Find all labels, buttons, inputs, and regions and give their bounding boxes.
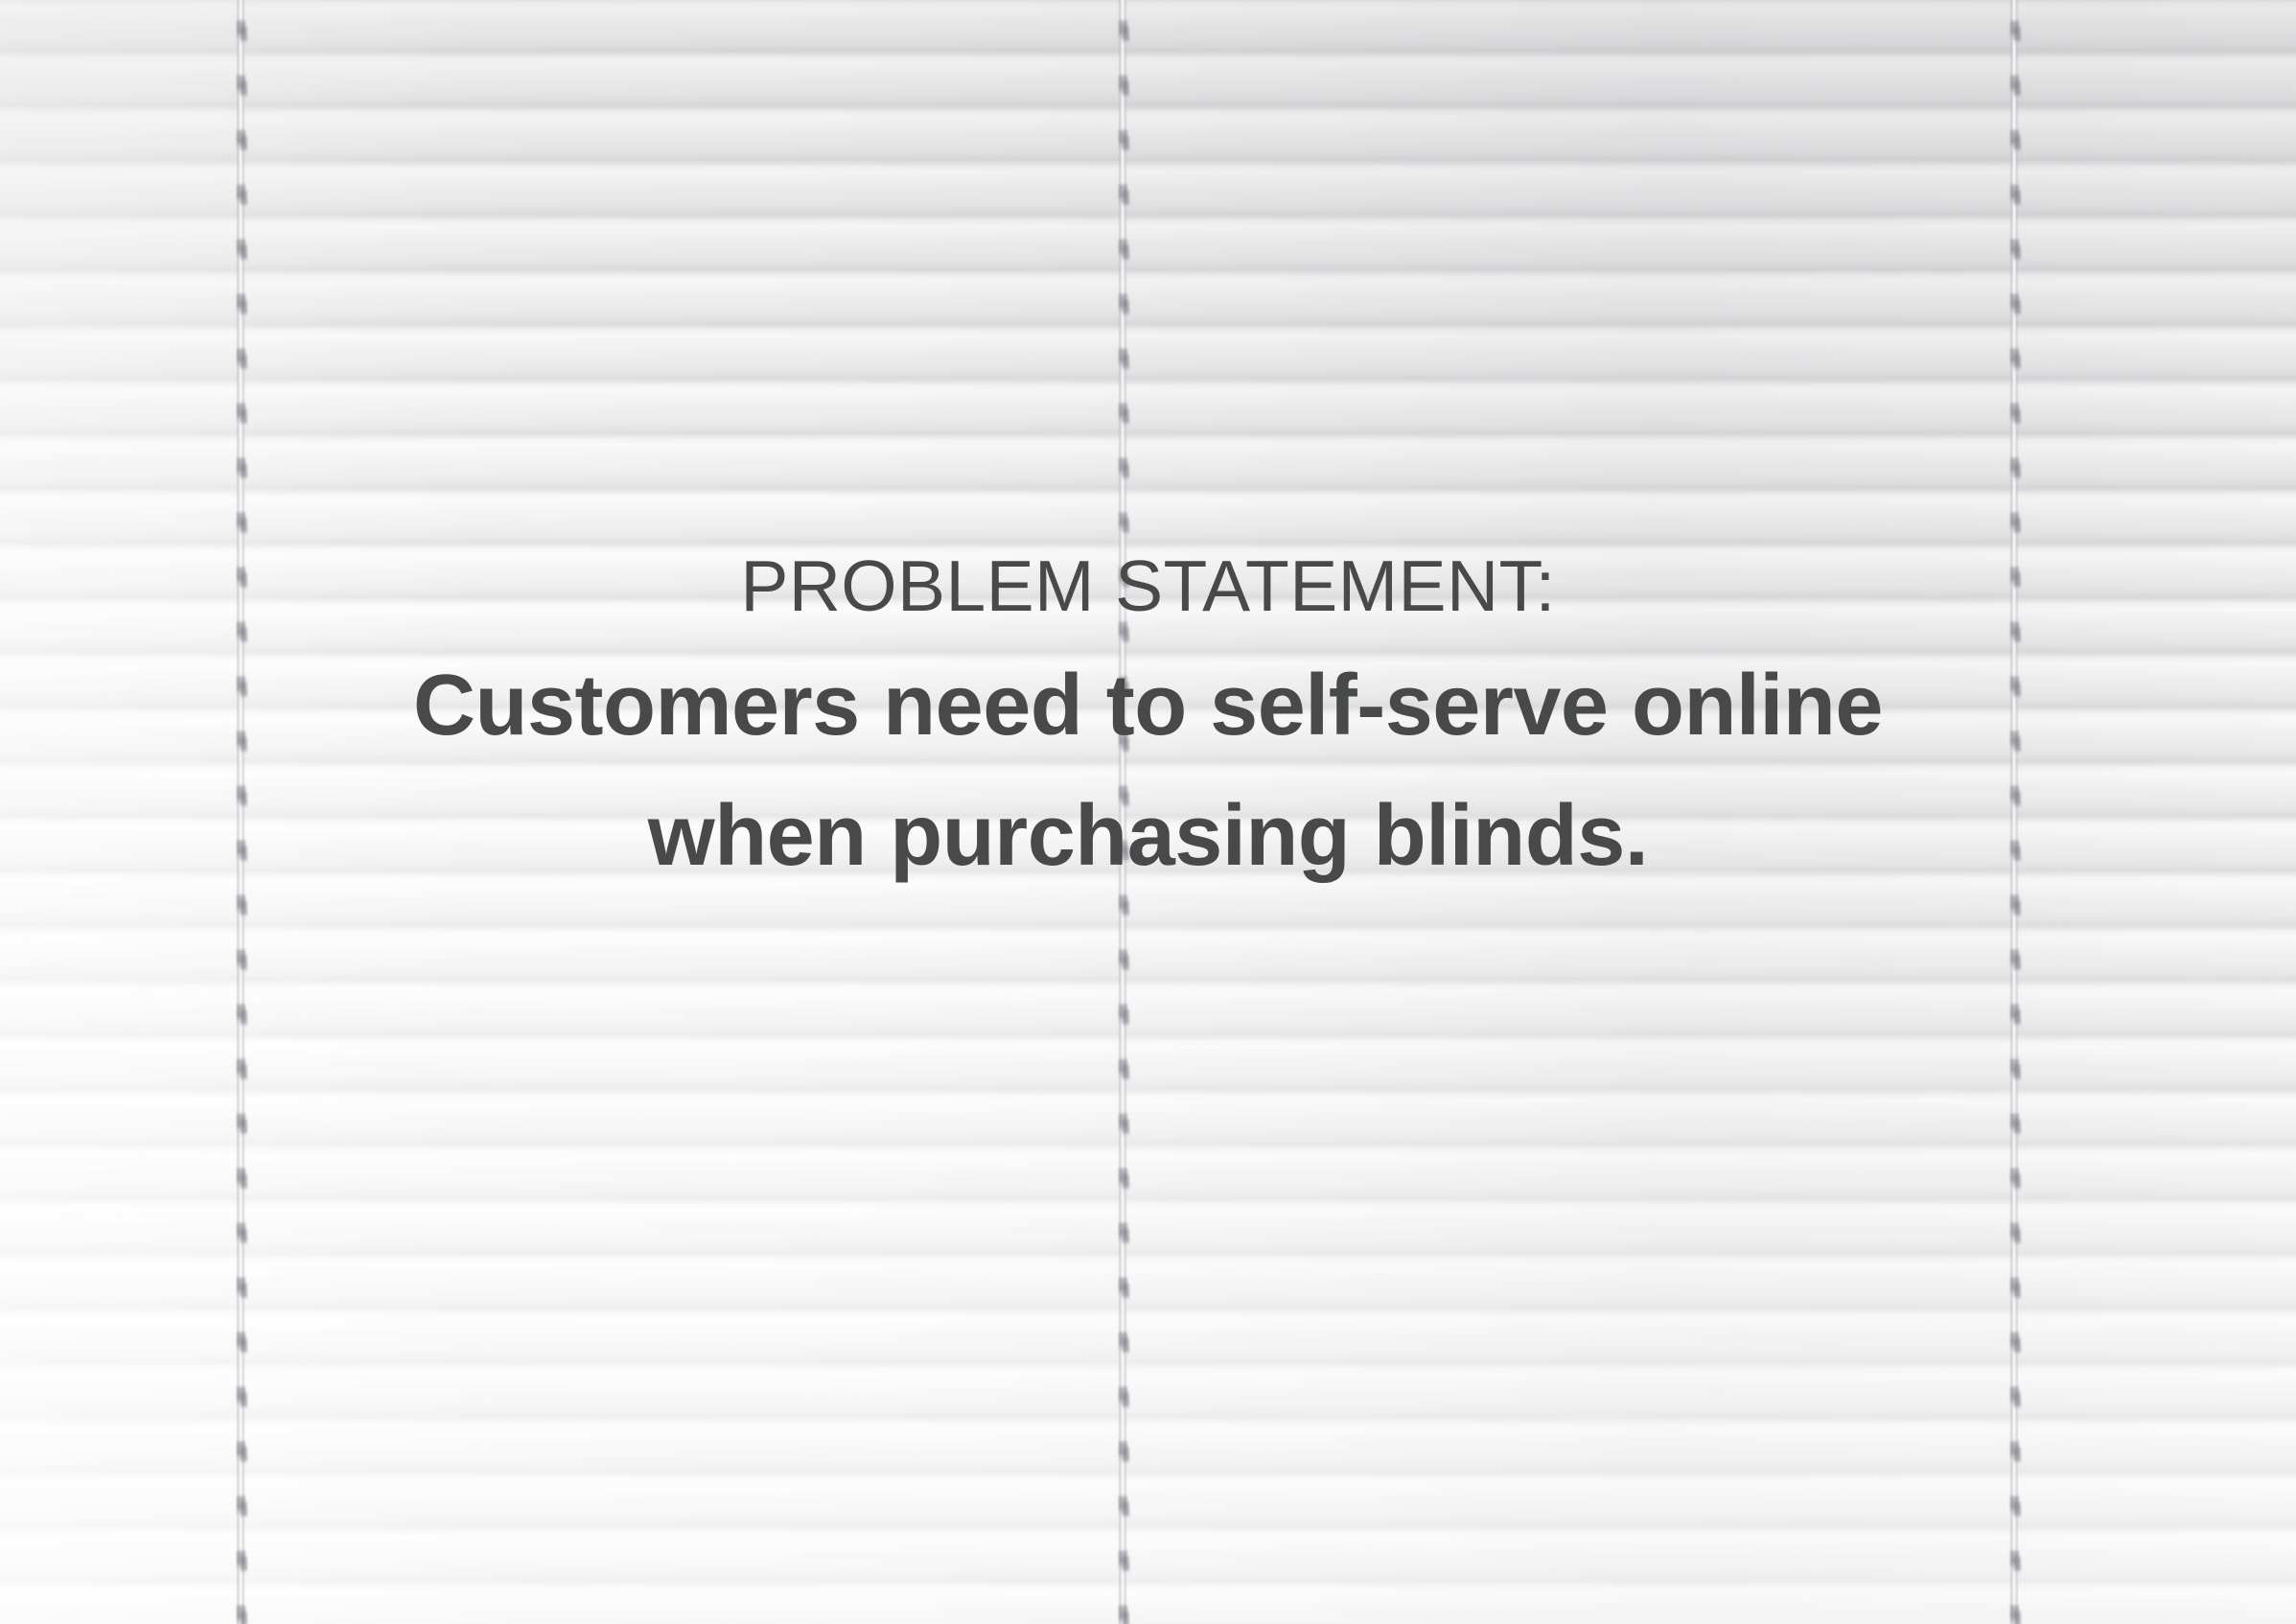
problem-statement-line-2: when purchasing blinds. (0, 793, 2296, 879)
problem-statement-line-1: Customers need to self-serve online (0, 662, 2296, 749)
slide-canvas: PROBLEM STATEMENT: Customers need to sel… (0, 0, 2296, 1624)
problem-statement-label: PROBLEM STATEMENT: (0, 550, 2296, 622)
slide-text-block: PROBLEM STATEMENT: Customers need to sel… (0, 550, 2296, 879)
